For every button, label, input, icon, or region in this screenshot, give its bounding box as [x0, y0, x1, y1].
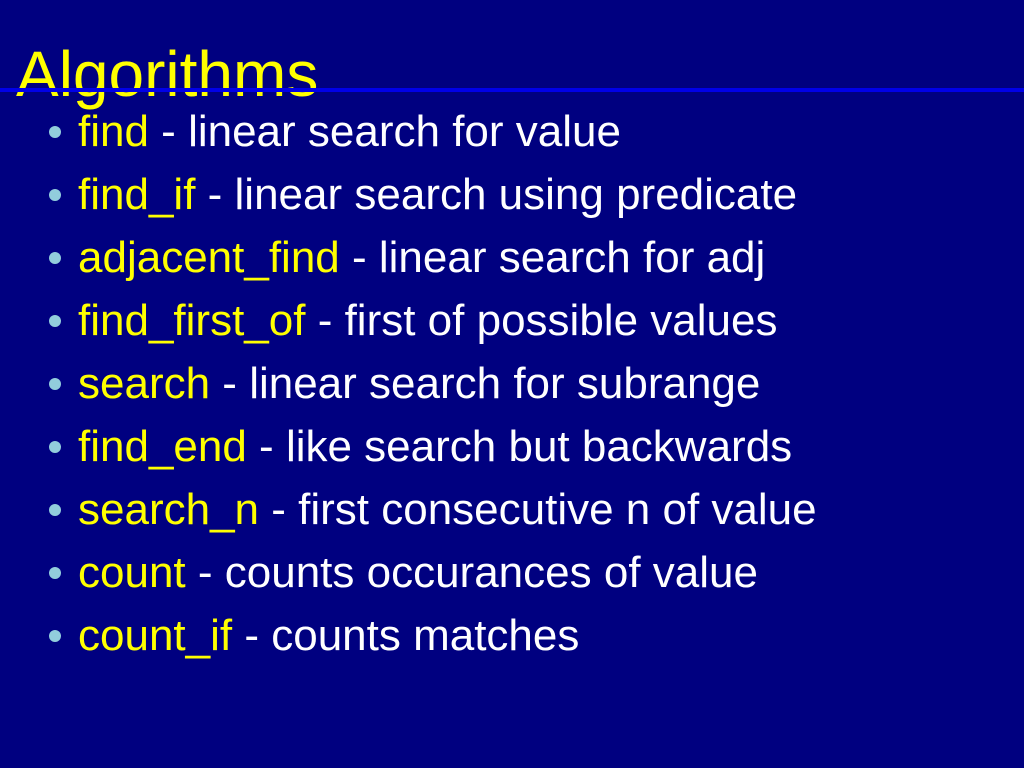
name-description-separator: - — [210, 359, 249, 408]
algorithm-bullet-list: find - linear search for valuefind_if - … — [0, 100, 1024, 667]
bullet-dot-icon — [49, 252, 61, 264]
bullet-dot-icon — [49, 567, 61, 579]
algorithm-name: count_if — [78, 611, 232, 660]
bullet-dot-icon — [49, 441, 61, 453]
name-description-separator: - — [149, 107, 188, 156]
algorithm-description: linear search for adj — [379, 233, 765, 282]
algorithm-description: counts matches — [271, 611, 579, 660]
algorithm-name: search — [78, 359, 210, 408]
bullet-dot-icon — [49, 378, 61, 390]
name-description-separator: - — [186, 548, 225, 597]
bullet-dot-icon — [49, 630, 61, 642]
list-item: search - linear search for subrange — [0, 352, 1024, 415]
name-description-separator: - — [232, 611, 271, 660]
list-item: find_first_of - first of possible values — [0, 289, 1024, 352]
title-divider — [0, 88, 1024, 92]
slide: Algorithms find - linear search for valu… — [0, 0, 1024, 768]
list-item-text: search_n - first consecutive n of value — [78, 488, 817, 532]
algorithm-name: find — [78, 107, 149, 156]
list-item-text: find_if - linear search using predicate — [78, 173, 797, 217]
algorithm-name: find_end — [78, 422, 247, 471]
algorithm-description: first of possible values — [345, 296, 778, 345]
bullet-dot-icon — [49, 504, 61, 516]
list-item: count - counts occurances of value — [0, 541, 1024, 604]
bullet-dot-icon — [49, 315, 61, 327]
algorithm-description: linear search for value — [188, 107, 621, 156]
list-item-text: find_end - like search but backwards — [78, 425, 792, 469]
algorithm-description: first consecutive n of value — [298, 485, 816, 534]
algorithm-name: find_first_of — [78, 296, 305, 345]
list-item: search_n - first consecutive n of value — [0, 478, 1024, 541]
algorithm-name: adjacent_find — [78, 233, 340, 282]
algorithm-description: linear search for subrange — [249, 359, 760, 408]
algorithm-name: count — [78, 548, 186, 597]
page-title: Algorithms — [16, 41, 318, 108]
name-description-separator: - — [259, 485, 298, 534]
algorithm-description: counts occurances of value — [225, 548, 758, 597]
name-description-separator: - — [247, 422, 286, 471]
algorithm-name: search_n — [78, 485, 259, 534]
list-item: find_end - like search but backwards — [0, 415, 1024, 478]
list-item-text: count_if - counts matches — [78, 614, 579, 658]
name-description-separator: - — [340, 233, 379, 282]
algorithm-name: find_if — [78, 170, 195, 219]
list-item: adjacent_find - linear search for adj — [0, 226, 1024, 289]
list-item-text: adjacent_find - linear search for adj — [78, 236, 765, 280]
list-item: find - linear search for value — [0, 100, 1024, 163]
name-description-separator: - — [195, 170, 234, 219]
bullet-dot-icon — [49, 189, 61, 201]
list-item-text: find_first_of - first of possible values — [78, 299, 777, 343]
list-item-text: search - linear search for subrange — [78, 362, 760, 406]
name-description-separator: - — [305, 296, 344, 345]
list-item-text: find - linear search for value — [78, 110, 621, 154]
list-item: count_if - counts matches — [0, 604, 1024, 667]
algorithm-description: like search but backwards — [286, 422, 792, 471]
list-item: find_if - linear search using predicate — [0, 163, 1024, 226]
bullet-dot-icon — [49, 126, 61, 138]
algorithm-description: linear search using predicate — [235, 170, 798, 219]
list-item-text: count - counts occurances of value — [78, 551, 758, 595]
